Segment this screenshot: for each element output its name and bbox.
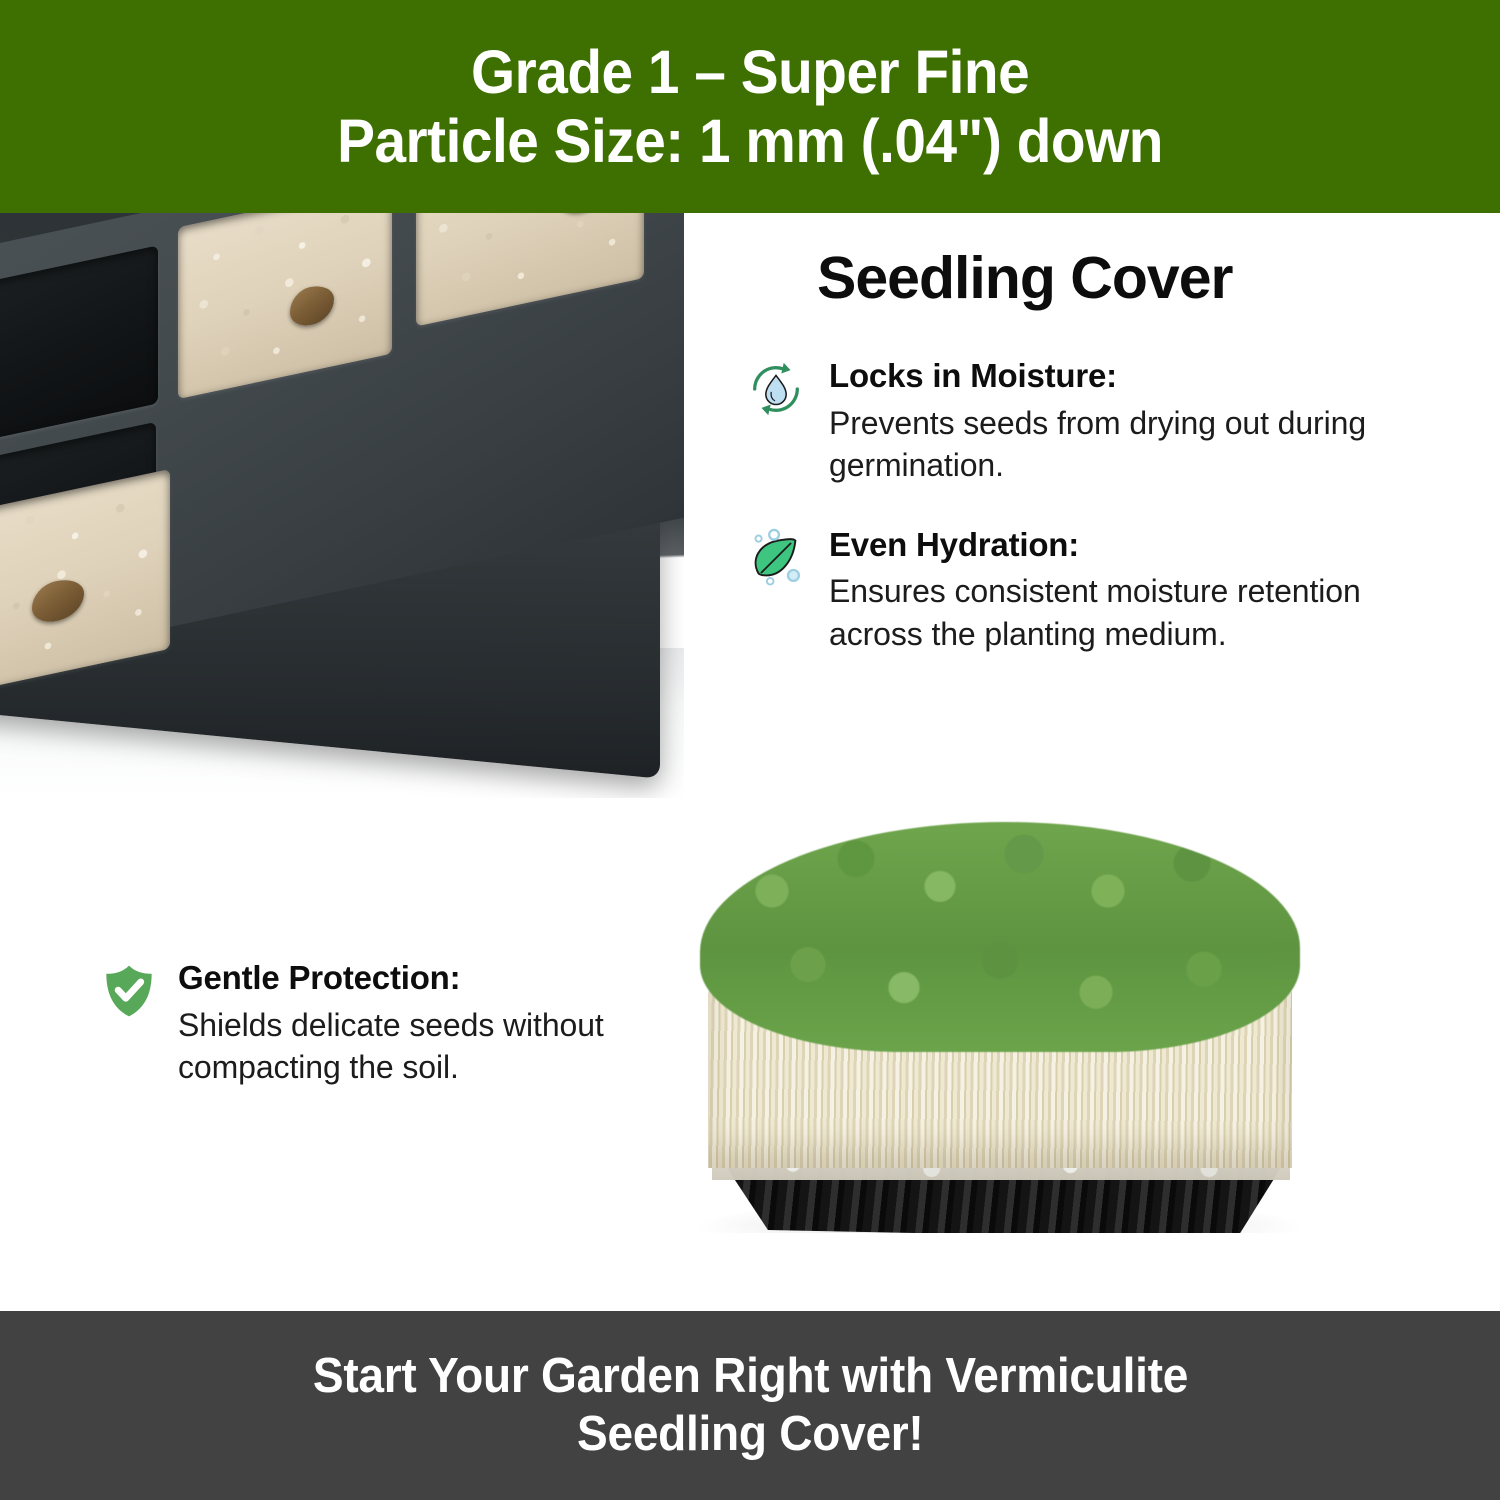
tray-cell-filled-1 — [178, 213, 392, 399]
seed-tray-photo — [0, 213, 684, 798]
seed-1 — [290, 282, 334, 329]
shield-check-icon — [100, 962, 158, 1020]
microgreens-leaf-canopy — [700, 822, 1300, 1052]
feature-3-text: Gentle Protection: Shields delicate seed… — [178, 958, 620, 1089]
feature-1-title: Locks in Moisture: — [829, 356, 1455, 396]
feature-1-text: Locks in Moisture: Prevents seeds from d… — [829, 354, 1455, 487]
feature-2-description: Ensures consistent moisture retention ac… — [829, 570, 1455, 655]
header-banner: Grade 1 – Super Fine Particle Size: 1 mm… — [0, 0, 1500, 213]
feature-3-title: Gentle Protection: — [178, 958, 620, 998]
footer-banner: Start Your Garden Right with Vermiculite… — [0, 1311, 1500, 1500]
tray-cell-empty-1 — [0, 245, 158, 443]
feature-2-text: Even Hydration: Ensures consistent moist… — [829, 523, 1455, 656]
header-title-line-2: Particle Size: 1 mm (.04") down — [337, 107, 1163, 175]
leaf-droplets-icon — [745, 527, 807, 589]
header-title-line-1: Grade 1 – Super Fine — [471, 38, 1029, 106]
seed-2 — [558, 213, 606, 216]
footer-text-line-1: Start Your Garden Right with Vermiculite — [312, 1348, 1187, 1406]
seed-3 — [32, 575, 84, 626]
page-title: Seedling Cover — [817, 248, 1455, 310]
footer-text-line-2: Seedling Cover! — [577, 1406, 923, 1464]
feature-locks-in-moisture: Locks in Moisture: Prevents seeds from d… — [745, 354, 1455, 487]
tray-body — [0, 213, 684, 795]
microgreens-photo — [660, 808, 1360, 1233]
feature-gentle-protection: Gentle Protection: Shields delicate seed… — [100, 958, 620, 1089]
tray-cell-filled-2 — [416, 213, 644, 327]
feature-1-description: Prevents seeds from drying out during ge… — [829, 402, 1455, 487]
feature-2-title: Even Hydration: — [829, 525, 1455, 565]
feature-even-hydration: Even Hydration: Ensures consistent moist… — [745, 523, 1455, 656]
feature-3-description: Shields delicate seeds without compactin… — [178, 1004, 620, 1089]
features-column: Seedling Cover Locks in Moisture: Preven… — [745, 248, 1455, 691]
water-drop-cycle-icon — [745, 358, 807, 420]
